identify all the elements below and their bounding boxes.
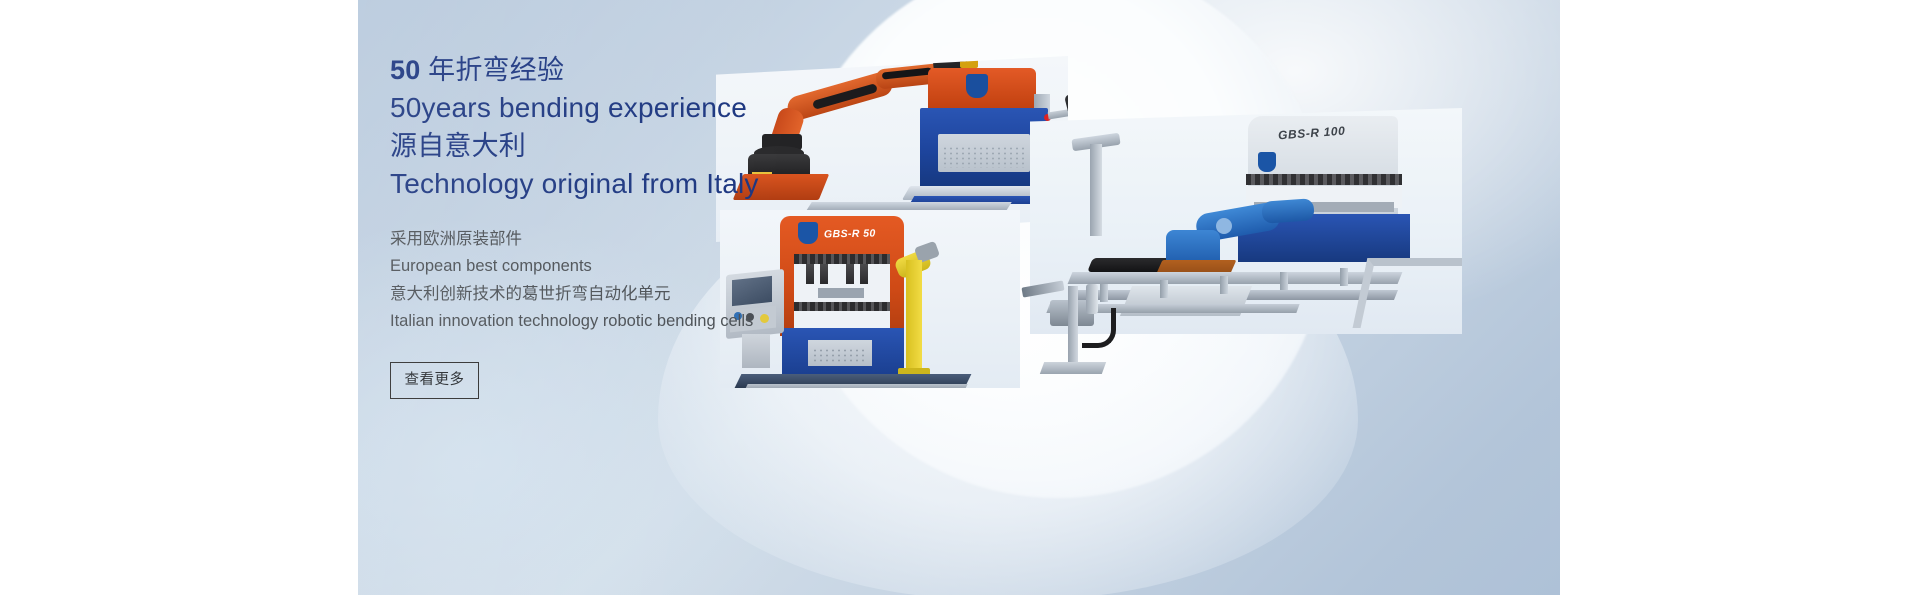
subtext-line-4: Italian innovation technology robotic be… <box>390 308 950 336</box>
headline-line-1: 50 年折弯经验 <box>390 52 950 89</box>
rail-leg <box>1220 276 1228 294</box>
headline-line-2: 50years bending experience <box>390 89 950 128</box>
pendant-button-green <box>1107 101 1118 112</box>
press-upper-brand-badge <box>966 74 988 98</box>
press-upper-vent-holes <box>942 146 1026 168</box>
banner-clip: GBS-R 100 <box>358 0 1560 595</box>
headline-line-4: Technology original from Italy <box>390 165 950 204</box>
press-gbs-r-100-badge <box>1258 152 1276 172</box>
mechanism-post <box>1068 286 1078 364</box>
headline-years-number: 50 <box>390 55 420 85</box>
pendant-button-yellow <box>1104 90 1115 101</box>
rail-leg <box>1340 268 1348 286</box>
mechanism-hose <box>1082 308 1116 348</box>
view-more-button[interactable]: 查看更多 <box>390 362 479 399</box>
subtext-line-2: European best components <box>390 253 950 281</box>
press-gbs-r-100-upper-tooling <box>1246 174 1402 185</box>
banner-headline: 50 年折弯经验 50years bending experience 源自意大… <box>390 52 950 204</box>
banner-stage: GBS-R 100 <box>0 0 1920 595</box>
gantry-column <box>1090 144 1102 236</box>
transfer-mechanism <box>1020 278 1130 382</box>
pendant-support-arm <box>1048 108 1081 120</box>
banner-subtext: 采用欧洲原装部件 European best components 意大利创新技… <box>390 226 950 336</box>
robot-gripper-tool <box>960 56 978 68</box>
mechanism-gripper <box>1021 280 1064 297</box>
pendant-screen <box>1073 92 1102 112</box>
outfeed-frame <box>1353 258 1468 328</box>
headline-line-3: 源自意大利 <box>390 128 950 165</box>
headline-line-1-rest: 年折弯经验 <box>420 55 564 85</box>
rail-leg <box>1160 280 1168 298</box>
subtext-line-3: 意大利创新技术的葛世折弯自动化单元 <box>390 281 950 309</box>
rail-leg <box>1280 272 1288 290</box>
mechanism-base-plate <box>1040 362 1106 374</box>
blue-robot-forearm <box>1261 198 1314 224</box>
banner-copy: 50 年折弯经验 50years bending experience 源自意大… <box>390 52 950 399</box>
hero-banner: GBS-R 100 <box>358 0 1560 595</box>
blue-robot-joint <box>1216 218 1232 234</box>
subtext-line-1: 采用欧洲原装部件 <box>390 226 950 254</box>
